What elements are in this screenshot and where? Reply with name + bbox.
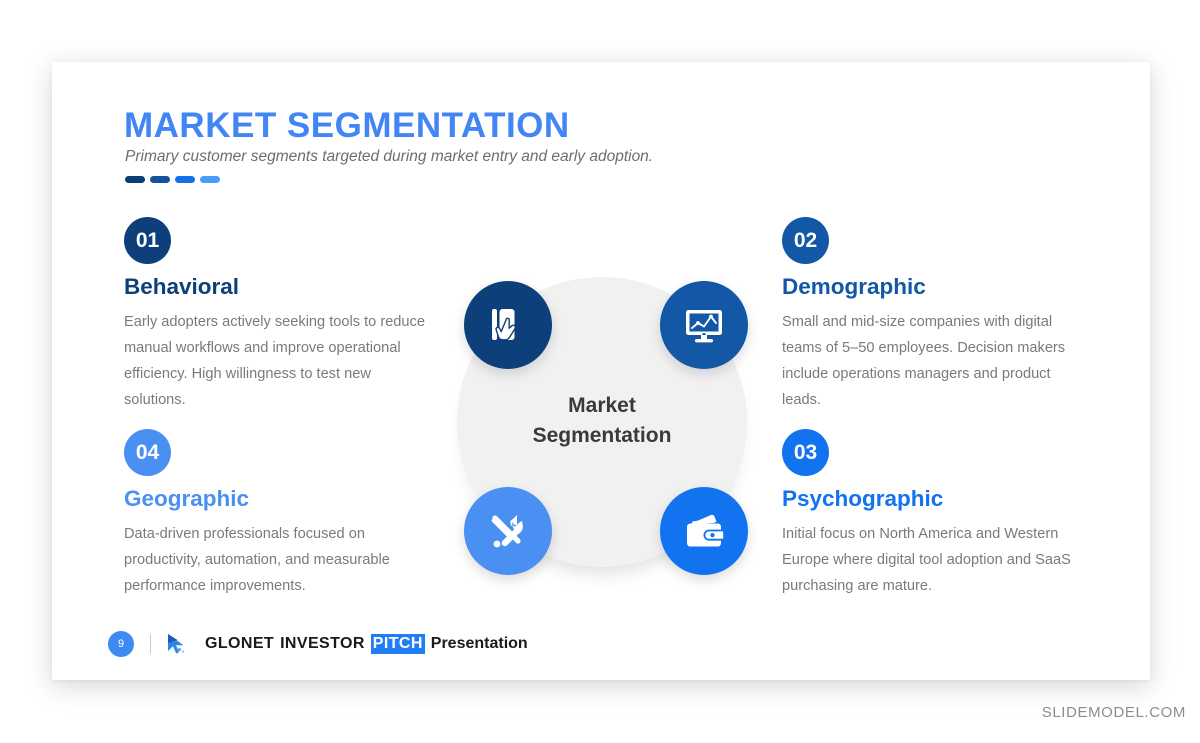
slidemodel-watermark: SLIDEMODEL.COM: [1042, 704, 1186, 721]
tools-icon: [485, 508, 531, 554]
segment-body-psychographic: Initial focus on North America and Weste…: [782, 521, 1082, 599]
segment-body-behavioral: Early adopters actively seeking tools to…: [124, 309, 434, 413]
slide-subtitle: Primary customer segments targeted durin…: [125, 148, 653, 166]
accent-dash-1: [125, 176, 145, 183]
slide-footer: 9 GLONET INVESTOR PITCH Presentation: [108, 629, 528, 659]
monitor-chart-icon: [681, 302, 727, 348]
segment-badge-04: 04: [124, 429, 171, 476]
page-number-badge: 9: [108, 631, 134, 657]
footer-brand-text: GLONET INVESTOR PITCH Presentation: [205, 634, 528, 654]
segment-body-demographic: Small and mid-size companies with digita…: [782, 309, 1082, 413]
icon-circle-demographic[interactable]: [660, 281, 748, 369]
accent-dash-4: [200, 176, 220, 183]
footer-divider: [150, 634, 151, 654]
icon-circle-geographic[interactable]: [464, 487, 552, 575]
center-diagram: Market Segmentation: [442, 267, 762, 587]
slide-card: MARKET SEGMENTATION Primary customer seg…: [52, 62, 1150, 680]
accent-dash-row: [125, 176, 220, 183]
segment-body-geographic: Data-driven professionals focused on pro…: [124, 521, 434, 599]
segment-badge-03: 03: [782, 429, 829, 476]
page-title: MARKET SEGMENTATION: [124, 106, 570, 146]
segment-block-psychographic[interactable]: 03 Psychographic Initial focus on North …: [782, 429, 1082, 599]
footer-word-investor: INVESTOR: [280, 635, 365, 653]
hand-touch-card-icon: [485, 302, 531, 348]
center-label-line2: Segmentation: [533, 424, 672, 447]
accent-dash-3: [175, 176, 195, 183]
wallet-icon: [681, 508, 727, 554]
footer-word-pitch: PITCH: [371, 634, 425, 654]
icon-circle-psychographic[interactable]: [660, 487, 748, 575]
cursor-arrow-logo-icon: [165, 632, 191, 656]
segment-heading-geographic: Geographic: [124, 487, 434, 512]
center-label-line1: Market: [568, 394, 636, 417]
segment-heading-demographic: Demographic: [782, 275, 1082, 300]
segment-block-demographic[interactable]: 02 Demographic Small and mid-size compan…: [782, 217, 1082, 413]
segment-heading-psychographic: Psychographic: [782, 487, 1082, 512]
segment-block-geographic[interactable]: 04 Geographic Data-driven professionals …: [124, 429, 434, 599]
segment-block-behavioral[interactable]: 01 Behavioral Early adopters actively se…: [124, 217, 434, 413]
icon-circle-behavioral[interactable]: [464, 281, 552, 369]
segment-heading-behavioral: Behavioral: [124, 275, 434, 300]
center-label: Market Segmentation: [442, 391, 762, 452]
segment-badge-01: 01: [124, 217, 171, 264]
footer-word-presentation: Presentation: [431, 635, 528, 653]
segment-badge-02: 02: [782, 217, 829, 264]
footer-brand-glonet: GLONET: [205, 635, 274, 653]
accent-dash-2: [150, 176, 170, 183]
